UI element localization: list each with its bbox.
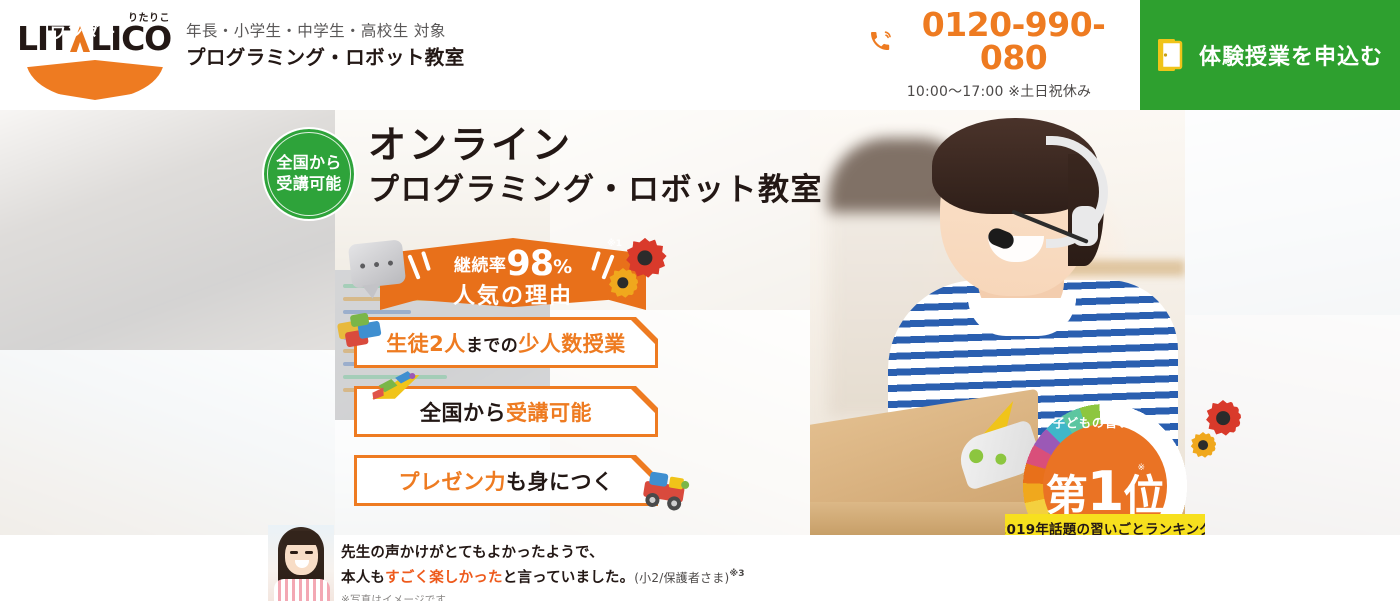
feature-2-part-0: 全国から	[420, 401, 506, 425]
feature-1-part-2: 少人数授業	[518, 332, 626, 356]
rank-footnote: ※	[1137, 462, 1145, 473]
testimonial-line2-post: と言っていました。	[503, 570, 635, 586]
rank-main-text: 第1位	[1046, 465, 1165, 519]
rank-banner-text: 2019年話題の習いごとランキング	[997, 518, 1213, 535]
testimonial-line2-pre: 本人も	[341, 570, 385, 586]
bubble-dot	[374, 262, 379, 267]
page-root: りたりこ LITLICO ワンダー 年長・小学生・中学生・高校生 対象 プログラ…	[0, 0, 1400, 601]
testimonial-line2: 本人もすごく楽しかったと言っていました。(小2/保護者さま)※3	[341, 566, 745, 587]
ribbon-footnote: ※1	[607, 239, 622, 249]
testimonial-note: ※写真はイメージです	[341, 592, 745, 601]
rank-badge: 第1位 ※ 子どもの習いごと 2019年話題の習いごとランキング	[1005, 402, 1205, 535]
header-tagline: 年長・小学生・中学生・高校生 対象 プログラミング・ロボット教室	[186, 22, 465, 70]
rank-prefix: 第	[1046, 471, 1087, 520]
tagline-title: プログラミング・ロボット教室	[186, 46, 465, 69]
rank-suffix: 位	[1123, 471, 1164, 520]
feature-text: 全国から受講可能	[420, 397, 592, 427]
feature-3-part-0: プレゼン力	[399, 470, 507, 494]
feature-box-small-class[interactable]: 生徒2人までの少人数授業	[354, 317, 658, 368]
avatar-eye-left	[290, 551, 298, 554]
feature-3-part-1: も身につく	[506, 470, 614, 494]
collage-photo-student-glasses	[0, 350, 335, 535]
phone-number[interactable]: 0120-990-080	[897, 8, 1130, 74]
rank-banner: 2019年話題の習いごとランキング	[1005, 514, 1205, 535]
avatar-shirt	[274, 579, 330, 601]
testimonial-bar: 先生の声かけがとてもよかったようで、 本人もすごく楽しかったと言っていました。(…	[0, 535, 1400, 601]
feature-1-part-0: 生徒2人	[386, 332, 466, 356]
badge-line-1: 全国から	[276, 153, 341, 172]
door-icon	[1157, 38, 1185, 72]
testimonial-text: 先生の声かけがとてもよかったようで、 本人もすごく楽しかったと言っていました。(…	[341, 541, 745, 601]
bubble-dot	[388, 260, 393, 265]
testimonial-line2-highlight: すごく楽しかった	[385, 570, 503, 586]
feature-text: 生徒2人までの少人数授業	[386, 328, 626, 358]
toy-truck-icon	[637, 466, 695, 516]
testimonial-line1: 先生の声かけがとてもよかったようで、	[341, 541, 745, 562]
speech-bubble-toy-icon	[348, 239, 406, 288]
testimonial-attribution: (小2/保護者さま)	[634, 571, 729, 585]
lego-brick-icon	[335, 306, 385, 349]
site-header: りたりこ LITLICO ワンダー 年長・小学生・中学生・高校生 対象 プログラ…	[0, 0, 1400, 110]
hero-banner: 全国から 受講可能 オンライン プログラミング・ロボット教室 継続率98% ※1	[0, 110, 1400, 535]
phone-row: 0120-990-080	[868, 8, 1130, 74]
ribbon-retention-label: 継続率	[454, 256, 507, 276]
logo-ribbon-label: ワンダー	[14, 19, 152, 43]
rank-top-label: 子どもの習いごと	[1023, 414, 1187, 431]
phone-hours: 10:00〜17:00 ※土日祝休み	[868, 81, 1130, 101]
tagline-subtitle: 年長・小学生・中学生・高校生 対象	[186, 22, 465, 41]
feature-box-presentation[interactable]: プレゼン力も身につく	[354, 455, 658, 506]
rank-number: 1	[1087, 460, 1124, 523]
testimonial-footnote-mark: ※3	[729, 569, 744, 579]
hero-title-line1: オンライン	[368, 124, 823, 168]
hero-title: オンライン プログラミング・ロボット教室	[368, 124, 823, 209]
cta-label: 体験授業を申込む	[1199, 39, 1383, 71]
badge-nationwide: 全国から 受講可能	[262, 127, 356, 221]
popularity-ribbon: 継続率98% ※1 人気の理由	[380, 238, 646, 310]
feature-text: プレゼン力も身につく	[399, 466, 614, 496]
avatar-bangs	[282, 531, 321, 545]
badge-line-2: 受講可能	[276, 174, 341, 193]
bubble-dot	[360, 263, 365, 268]
avatar-eye-right	[305, 551, 313, 554]
ribbon-line2: 人気の理由	[380, 278, 646, 310]
feature-1-part-1: までの	[466, 336, 519, 356]
ribbon-percent-symbol: %	[553, 256, 572, 278]
phone-icon	[868, 28, 892, 54]
collage-photo-laptop-scratch	[1185, 110, 1400, 315]
hero-title-line2: プログラミング・ロボット教室	[368, 172, 823, 209]
feature-2-part-1: 受講可能	[506, 401, 592, 425]
testimonial-avatar	[268, 525, 334, 601]
badge-nationwide-text: 全国から 受講可能	[276, 153, 341, 195]
header-phone-block[interactable]: 0120-990-080 10:00〜17:00 ※土日祝休み	[868, 8, 1130, 101]
trial-lesson-apply-button[interactable]: 体験授業を申込む	[1140, 0, 1400, 110]
litalico-logo[interactable]: りたりこ LITLICO ワンダー	[14, 8, 174, 98]
logo-ribbon-shape	[26, 60, 164, 100]
